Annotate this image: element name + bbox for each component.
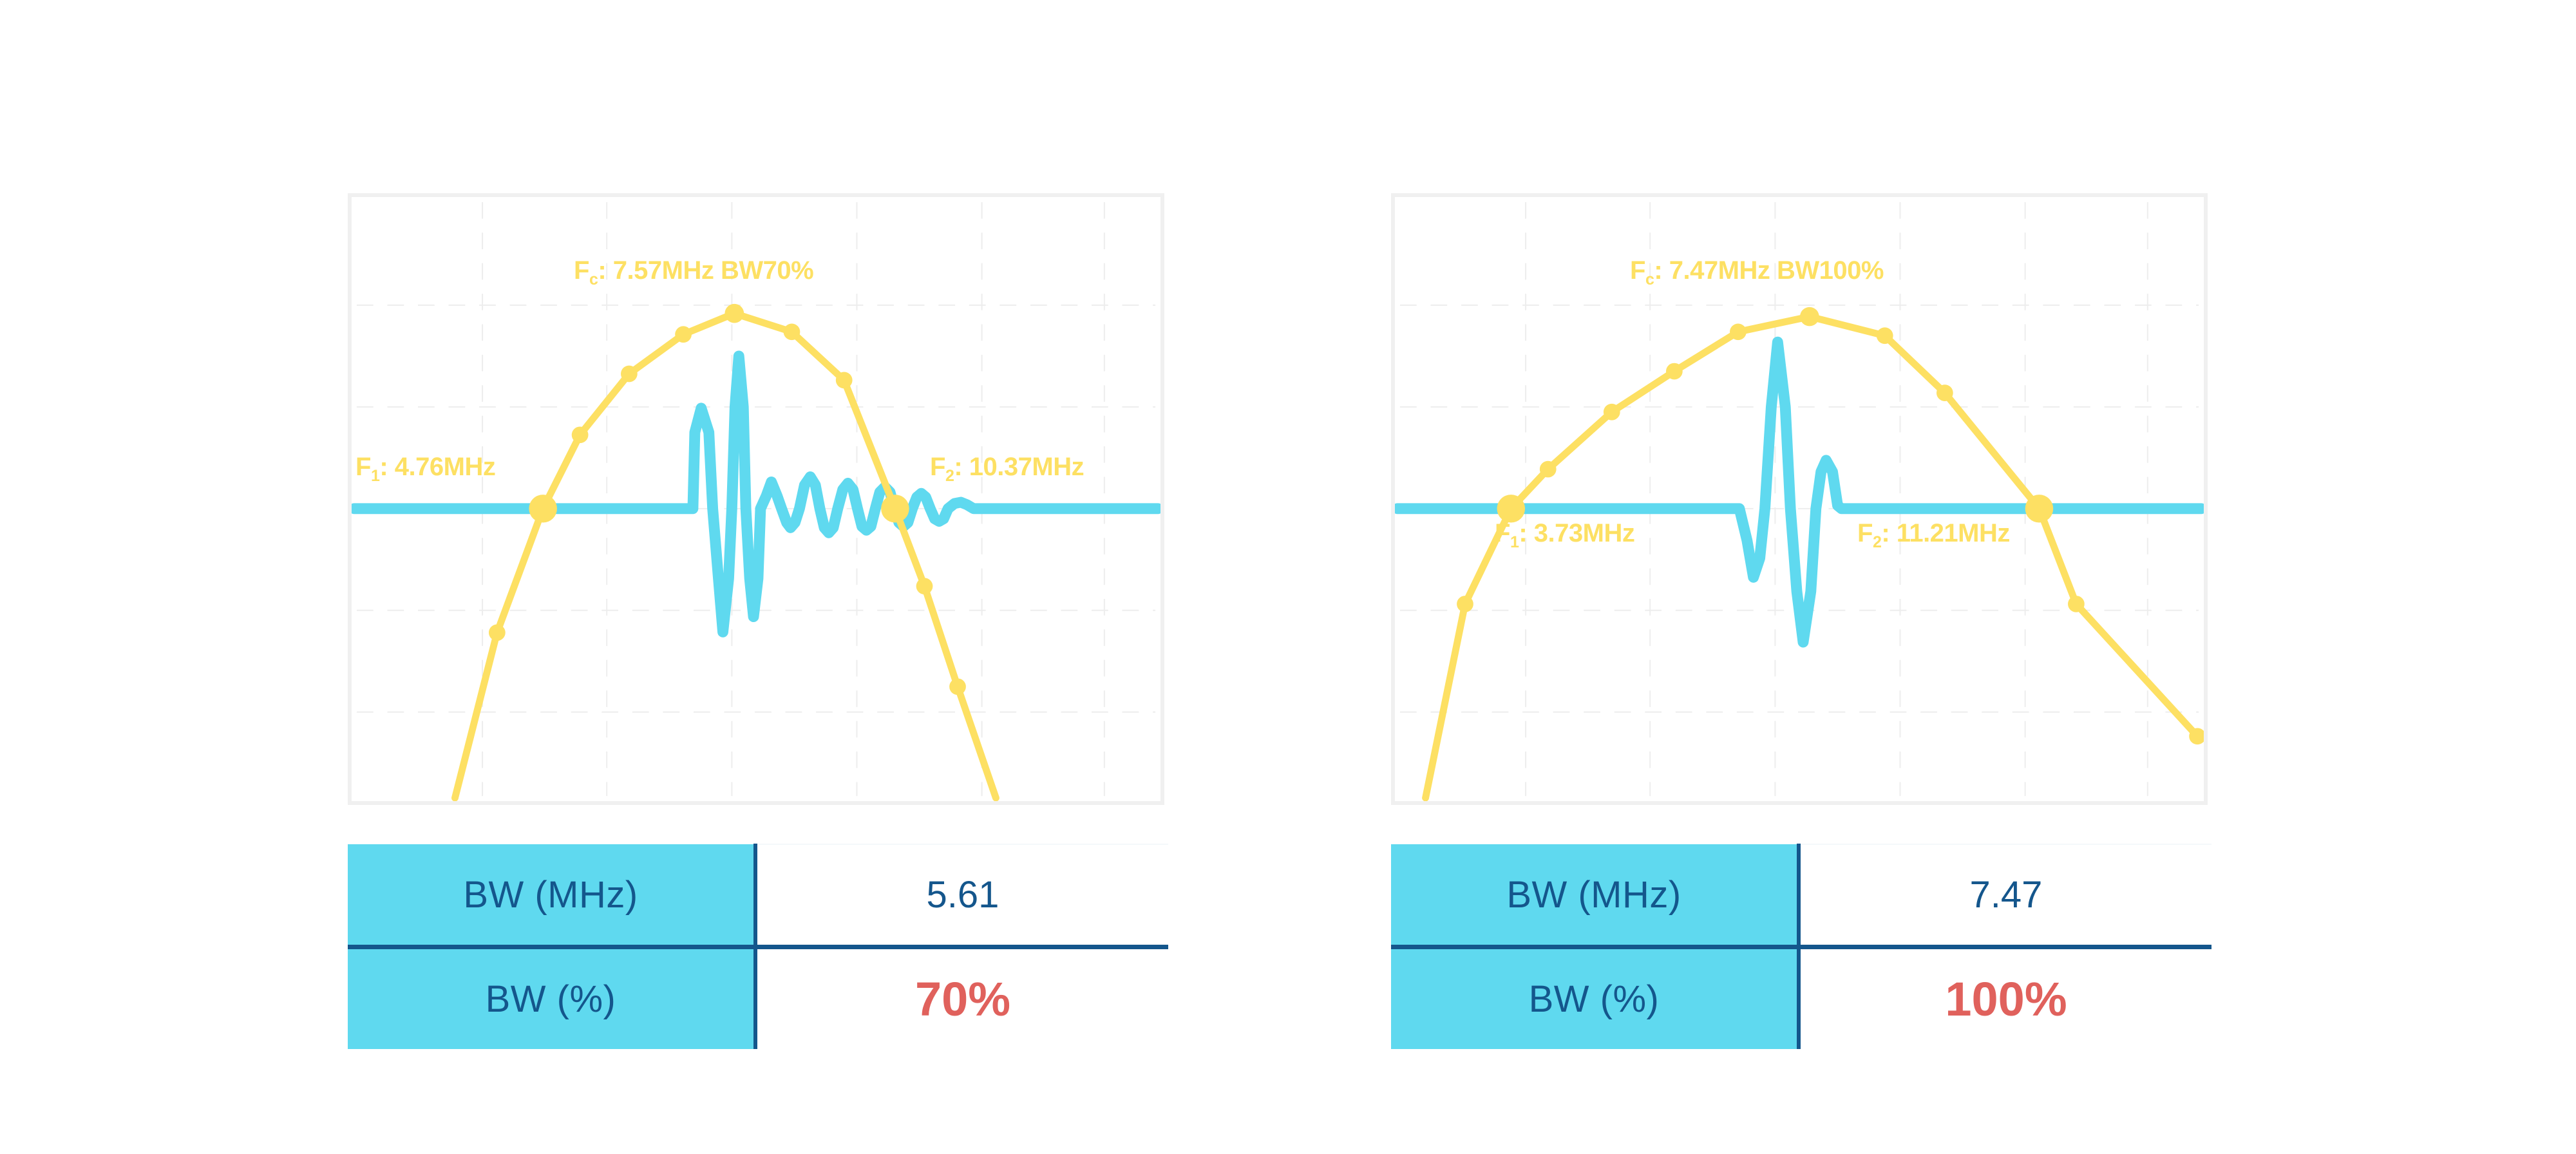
marker-f2-bw70 bbox=[881, 495, 909, 522]
bw-table-bw70: BW (MHz) 5.61 BW (%) 70% bbox=[348, 844, 1168, 1049]
annotation-fc-text: : 7.47MHz BW100% bbox=[1654, 256, 1884, 285]
pulse-waveform-bw70 bbox=[354, 356, 1158, 632]
table-row: BW (%) 100% bbox=[1391, 947, 2211, 1050]
annotation-fc-subscript: c bbox=[1645, 270, 1654, 288]
annotation-fc-subscript: c bbox=[589, 270, 598, 288]
bw-mhz-label: BW (MHz) bbox=[1391, 844, 1799, 947]
bw-table-bw100: BW (MHz) 7.47 BW (%) 100% bbox=[1391, 844, 2211, 1049]
annotation-f2-bw100: F2: 11.21MHz bbox=[1857, 519, 2010, 552]
marker-f2-bw100 bbox=[2025, 495, 2054, 522]
marker-f1-bw70 bbox=[529, 495, 557, 522]
bw-mhz-value: 7.47 bbox=[1799, 844, 2211, 947]
annotation-f1-subscript: 1 bbox=[371, 467, 379, 485]
table-row: BW (MHz) 5.61 bbox=[348, 844, 1168, 947]
annotation-f2-symbol: F bbox=[1857, 519, 1873, 547]
annotation-fc-symbol: F bbox=[574, 256, 589, 285]
table-row: BW (%) 70% bbox=[348, 947, 1168, 1050]
bw-mhz-label: BW (MHz) bbox=[348, 844, 755, 947]
annotation-fc-symbol: F bbox=[1630, 256, 1645, 285]
annotation-f1-bw70: F1: 4.76MHz bbox=[355, 453, 495, 486]
annotation-f1-symbol: F bbox=[355, 453, 371, 481]
panel-bw100: Fc: 7.47MHz BW100% F1: 3.73MHz F2: 11.21… bbox=[1391, 193, 2215, 1049]
annotation-f1-text: : 3.73MHz bbox=[1519, 519, 1634, 547]
charts-container: Fc: 7.57MHz BW70% F1: 4.76MHz F2: 10.37M… bbox=[0, 0, 2576, 1154]
annotation-f2-bw70: F2: 10.37MHz bbox=[930, 453, 1084, 486]
table-row: BW (MHz) 7.47 bbox=[1391, 844, 2211, 947]
annotation-f2-subscript: 2 bbox=[945, 467, 954, 485]
bw-pct-value: 70% bbox=[755, 947, 1168, 1050]
bw-mhz-value: 5.61 bbox=[755, 844, 1168, 947]
annotation-f1-symbol: F bbox=[1495, 519, 1510, 547]
annotation-f2-text: : 10.37MHz bbox=[954, 453, 1084, 481]
annotation-f2-subscript: 2 bbox=[1873, 533, 1881, 551]
plot-frame-bw100: Fc: 7.47MHz BW100% F1: 3.73MHz F2: 11.21… bbox=[1391, 193, 2208, 805]
bw-pct-label: BW (%) bbox=[1391, 947, 1799, 1050]
annotation-f1-bw100: F1: 3.73MHz bbox=[1495, 519, 1634, 552]
annotation-f1-subscript: 1 bbox=[1510, 533, 1519, 551]
annotation-f1-text: : 4.76MHz bbox=[379, 453, 495, 481]
annotation-fc-text: : 7.57MHz BW70% bbox=[598, 256, 813, 285]
annotation-f2-symbol: F bbox=[930, 453, 945, 481]
bw-pct-value: 100% bbox=[1799, 947, 2211, 1050]
panel-bw70: Fc: 7.57MHz BW70% F1: 4.76MHz F2: 10.37M… bbox=[348, 193, 1172, 1049]
plot-frame-bw70: Fc: 7.57MHz BW70% F1: 4.76MHz F2: 10.37M… bbox=[348, 193, 1164, 805]
annotation-fc-bw100: Fc: 7.47MHz BW100% bbox=[1630, 256, 1884, 289]
bw-pct-label: BW (%) bbox=[348, 947, 755, 1050]
annotation-f2-text: : 11.21MHz bbox=[1881, 519, 2010, 547]
annotation-fc-bw70: Fc: 7.57MHz BW70% bbox=[574, 256, 813, 289]
